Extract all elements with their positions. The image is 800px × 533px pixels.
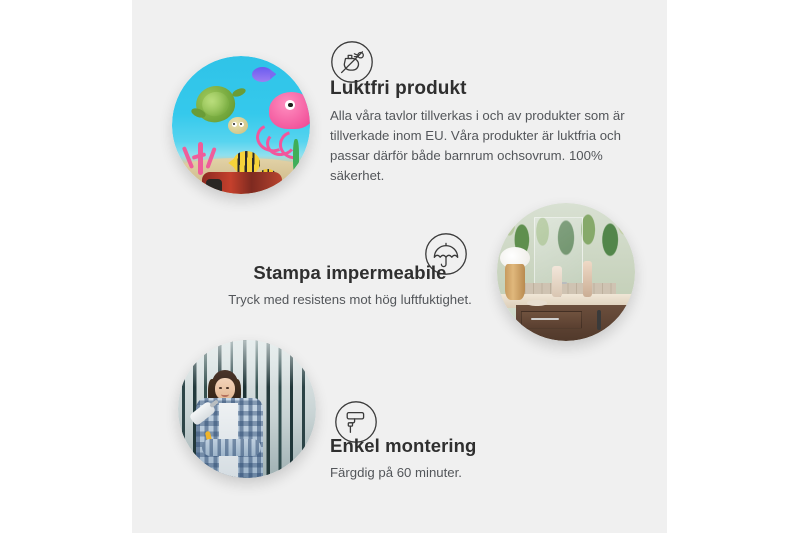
wood-vanity-cabinet (516, 305, 635, 341)
toiletry-bottle (583, 261, 593, 297)
drawer-handle (531, 318, 559, 320)
turtle-head (228, 117, 248, 134)
octopus-eye (285, 100, 296, 110)
feature-heading-easy-mounting: Enkel montering (330, 435, 590, 457)
face (215, 378, 235, 401)
octopus (255, 92, 310, 155)
feature-body-odorless: Alla våra tavlor tillverkas i och av pro… (330, 106, 630, 186)
eye (226, 387, 229, 389)
woman-decorator (195, 370, 272, 478)
smile (221, 392, 229, 397)
folded-arms (202, 439, 261, 456)
feature-heading-waterproof: Stampa impermeabile (200, 262, 500, 284)
purple-fish (252, 67, 273, 82)
feature-image-bathroom-tropical-wallpaper (497, 203, 635, 341)
feature-text-odorless: Luktfri produkt Alla våra tavlor tillver… (330, 78, 630, 186)
feature-heading-odorless: Luktfri produkt (330, 78, 630, 100)
feature-body-easy-mounting: Färgdig på 60 minuter. (330, 463, 590, 483)
feature-image-underwater-cartoon-mural (172, 56, 310, 194)
sea-turtle (191, 86, 249, 136)
turtle-eye (232, 122, 237, 127)
octopus-body (269, 92, 310, 129)
turtle-eye (239, 122, 244, 127)
toiletry-bottle (552, 266, 562, 296)
feature-text-waterproof: Stampa impermeabile Tryck med resistens … (200, 262, 500, 310)
feature-image-woman-with-roller-forest-mural (178, 340, 316, 478)
seaweed (293, 139, 299, 175)
gold-vase (505, 264, 524, 300)
promo-banner: Luktfri produkt Alla våra tavlor tillver… (0, 0, 800, 533)
pink-coral (180, 133, 221, 174)
cabinet-handle (597, 310, 601, 330)
feature-body-waterproof: Tryck med resistens mot hög luftfuktighe… (200, 290, 500, 310)
eye (219, 387, 222, 389)
feature-text-easy-mounting: Enkel montering Färgdig på 60 minuter. (330, 435, 590, 483)
seabed-object (202, 172, 282, 194)
